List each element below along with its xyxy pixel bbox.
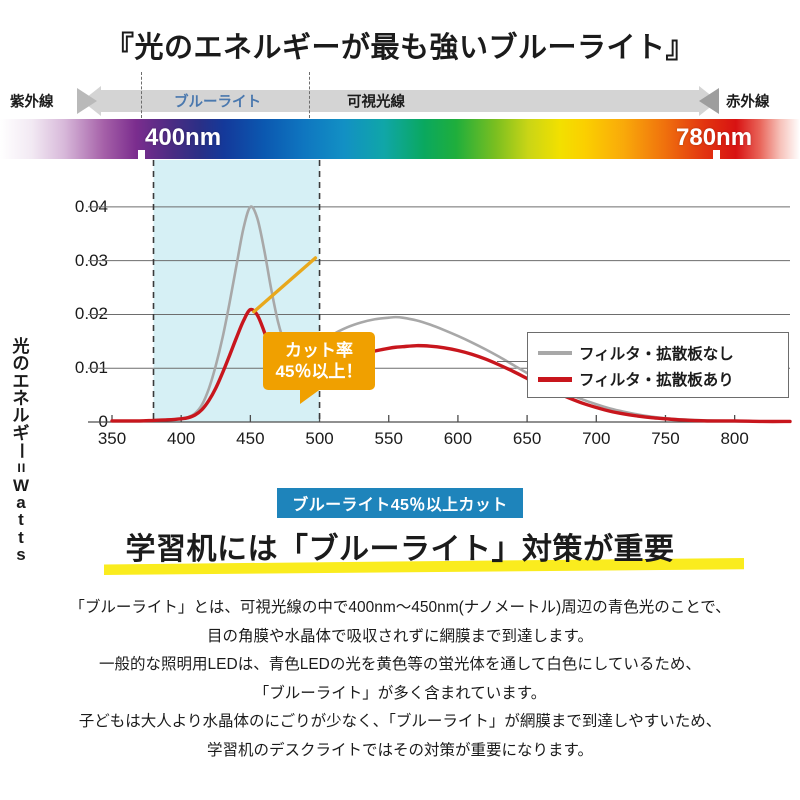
legend-swatch-no-filter (538, 351, 572, 355)
legend-swatch-with-filter (538, 377, 572, 382)
x-tick-label-5: 600 (444, 429, 472, 449)
spectrum-band-header: 紫外線 赤外線 ブルーライト 可視光線 (0, 84, 800, 118)
headline-text: 学習机には「ブルーライト」対策が重要 (0, 524, 800, 568)
callout-line-1: カット率 (285, 340, 353, 361)
badge-label: ブルーライト45％以上カット (292, 491, 507, 515)
legend-label-with-filter: フィルタ・拡散板あり (579, 368, 734, 390)
callout-line-2: 45％以上！ (276, 361, 363, 382)
body-line-0: 「ブルーライト」とは、可視光線の中で400nm〜450nm(ナノメートル)周辺の… (0, 594, 800, 623)
ir-label: 赤外線 (726, 91, 770, 112)
headline-block: 学習机には「ブルーライト」対策が重要 (0, 524, 800, 582)
x-tick-label-6: 650 (513, 429, 541, 449)
body-line-3: 「ブルーライト」が多く含まれています。 (0, 680, 800, 709)
legend-leader-line (497, 361, 528, 362)
spectrum-marker-780: 780nm (676, 124, 752, 152)
infographic-root: 『光のエネルギーが最も強いブルーライト』 紫外線 赤外線 ブルーライト 可視光線… (0, 0, 800, 800)
x-tick-label-8: 750 (651, 429, 679, 449)
visible-light-label: 可視光線 (347, 91, 405, 112)
x-tick-label-3: 500 (305, 429, 333, 449)
body-line-5: 学習机のデスクライトではその対策が重要になります。 (0, 737, 800, 766)
energy-spectrum-chart: 光のエネルギー=Watts 00.010.020.030.04 フィルタ・拡散板… (0, 160, 800, 460)
body-line-2: 一般的な照明用LEDは、青色LEDの光を黄色等の蛍光体を通して白色にしているため… (0, 651, 800, 680)
y-axis-label-char-9: a (8, 494, 34, 511)
x-tick-label-4: 550 (375, 429, 403, 449)
x-tick-label-0: 350 (98, 429, 126, 449)
dashed-line-500 (309, 72, 310, 118)
cut-rate-callout: カット率 45％以上！ (263, 332, 375, 390)
status-badge: ブルーライト45％以上カット (277, 488, 523, 518)
x-tick-label-7: 700 (582, 429, 610, 449)
x-tick-label-1: 400 (167, 429, 195, 449)
body-line-4: 子どもは大人より水晶体のにごりが少なく、「ブルーライト」が網膜まで到達しやすいた… (0, 708, 800, 737)
legend-item-1: フィルタ・拡散板あり (538, 366, 788, 392)
legend-label-no-filter: フィルタ・拡散板なし (579, 342, 734, 364)
chart-legend: フィルタ・拡散板なし フィルタ・拡散板あり (527, 332, 789, 398)
uv-arrow-icon (77, 88, 97, 114)
body-copy: 「ブルーライト」とは、可視光線の中で400nm〜450nm(ナノメートル)周辺の… (0, 594, 800, 765)
body-line-1: 目の角膜や水晶体で吸収されずに網膜まで到達します。 (0, 623, 800, 652)
chart-plot-area (0, 160, 800, 460)
spectrum-notch-780 (713, 150, 720, 159)
x-tick-label-2: 450 (236, 429, 264, 449)
dashed-line-400 (141, 72, 142, 118)
page-title: 『光のエネルギーが最も強いブルーライト』 (0, 24, 800, 66)
ir-arrow-icon (699, 88, 719, 114)
blue-light-label: ブルーライト (174, 91, 261, 112)
spectrum-notch-400 (138, 150, 145, 159)
x-tick-label-9: 800 (720, 429, 748, 449)
uv-label: 紫外線 (10, 91, 54, 112)
callout-tail-icon (300, 388, 322, 404)
legend-item-0: フィルタ・拡散板なし (538, 340, 788, 366)
spectrum-marker-400: 400nm (145, 124, 221, 152)
